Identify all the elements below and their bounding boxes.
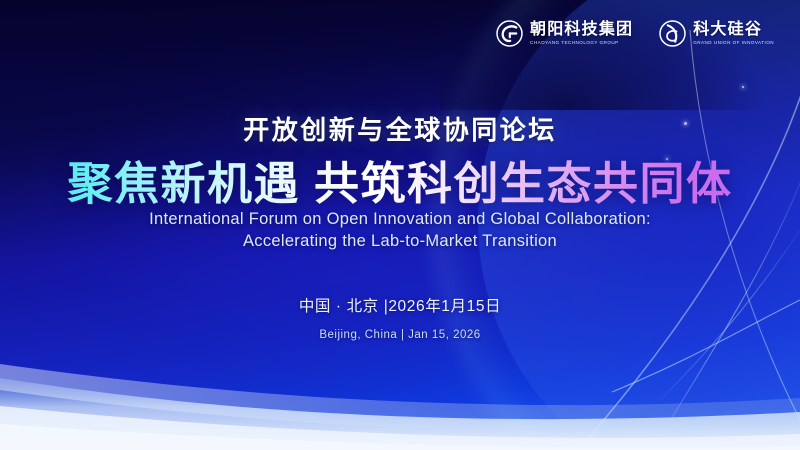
chaoyang-swirl-logo-icon	[496, 20, 523, 47]
poster-text-block: 开放创新与全球协同论坛 聚焦新机遇 共筑科创生态共同体 Internationa…	[0, 0, 800, 450]
logo-keda-guigu-name-cn: 科大硅谷	[693, 22, 774, 38]
poster-headline: 聚焦新机遇 共筑科创生态共同体	[0, 147, 800, 212]
logo-keda-guigu-name-en: GRAND UNION OF INNOVATION	[693, 41, 774, 46]
keda-guigu-circle-logo-icon	[659, 20, 686, 47]
subtitle-line-2: Accelerating the Lab-to-Market Transitio…	[0, 230, 800, 252]
event-meta-english: Beijing, China | Jan 15, 2026	[0, 329, 800, 341]
subtitle-line-1: International Forum on Open Innovation a…	[0, 208, 800, 230]
forum-kicker-title: 开放创新与全球协同论坛	[0, 110, 800, 147]
logo-bar: 朝阳科技集团 CHAOYANG TECHNOLOGY GROUP 科大硅谷 GR…	[496, 20, 774, 47]
logo-chaoyang-name-en: CHAOYANG TECHNOLOGY GROUP	[530, 41, 633, 46]
logo-keda-guigu[interactable]: 科大硅谷 GRAND UNION OF INNOVATION	[659, 20, 774, 47]
poster-subtitle-english: International Forum on Open Innovation a…	[0, 208, 800, 252]
event-poster: 朝阳科技集团 CHAOYANG TECHNOLOGY GROUP 科大硅谷 GR…	[0, 0, 800, 450]
logo-chaoyang-technology-group[interactable]: 朝阳科技集团 CHAOYANG TECHNOLOGY GROUP	[496, 20, 633, 47]
event-meta-chinese: 中国 · 北京 |2026年1月15日	[0, 294, 800, 316]
logo-chaoyang-name-cn: 朝阳科技集团	[530, 22, 633, 38]
